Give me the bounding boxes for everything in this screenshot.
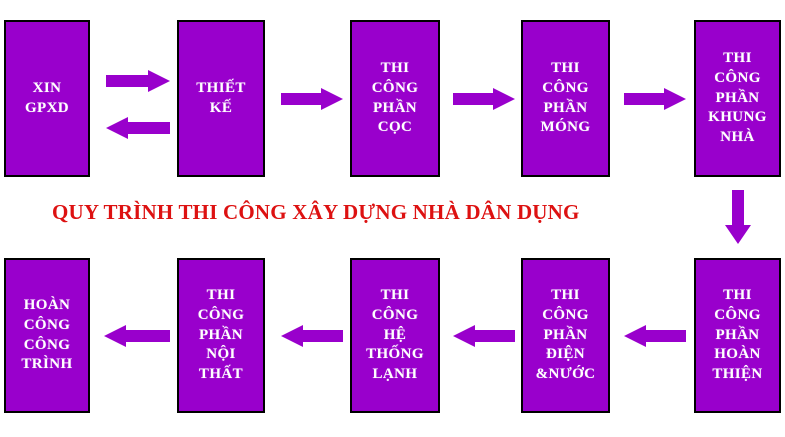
- process-box-thi-cong-phan-coc[interactable]: THI CÔNG PHẦN CỌC: [350, 20, 440, 177]
- process-box-thi-cong-phan-hoan-thien[interactable]: THI CÔNG PHẦN HOÀN THIỆN: [694, 258, 781, 413]
- arrow-gpxd-to-thietke: [106, 70, 170, 92]
- arrow-noithat-to-hoancong: [104, 325, 170, 347]
- flowchart-canvas: XIN GPXD THIẾT KẾ THI CÔNG PHẦN CỌC THI …: [0, 0, 785, 437]
- process-box-label: THI CÔNG HỆ THỐNG LẠNH: [366, 286, 424, 385]
- process-box-label: THI CÔNG PHẦN HOÀN THIỆN: [712, 286, 762, 385]
- process-box-label: THI CÔNG PHẦN KHUNG NHÀ: [708, 49, 767, 148]
- arrow-mong-to-khungnha: [624, 88, 686, 110]
- arrow-thietke-to-gpxd: [106, 117, 170, 139]
- arrow-hoanthien-to-diennuoc: [624, 325, 686, 347]
- arrow-diennuoc-to-helanh: [453, 325, 515, 347]
- process-box-xin-gpxd[interactable]: XIN GPXD: [4, 20, 90, 177]
- process-box-label: THI CÔNG PHẦN MÓNG: [541, 59, 591, 138]
- arrow-thietke-to-coc: [281, 88, 343, 110]
- arrow-helanh-to-noithat: [281, 325, 343, 347]
- page-title: QUY TRÌNH THI CÔNG XÂY DỰNG NHÀ DÂN DỤNG: [52, 200, 580, 225]
- process-box-thiet-ke[interactable]: THIẾT KẾ: [177, 20, 265, 177]
- process-box-label: THI CÔNG PHẦN ĐIỆN &NƯỚC: [536, 286, 596, 385]
- process-box-thi-cong-phan-noi-that[interactable]: THI CÔNG PHẦN NỘI THẤT: [177, 258, 265, 413]
- process-box-label: THIẾT KẾ: [196, 79, 246, 119]
- arrow-khungnha-to-hoanthien: [725, 190, 751, 244]
- arrow-coc-to-mong: [453, 88, 515, 110]
- process-box-thi-cong-phan-dien-nuoc[interactable]: THI CÔNG PHẦN ĐIỆN &NƯỚC: [521, 258, 610, 413]
- process-box-thi-cong-phan-mong[interactable]: THI CÔNG PHẦN MÓNG: [521, 20, 610, 177]
- process-box-label: XIN GPXD: [25, 79, 69, 119]
- process-box-label: THI CÔNG PHẦN CỌC: [372, 59, 419, 138]
- process-box-thi-cong-he-thong-lanh[interactable]: THI CÔNG HỆ THỐNG LẠNH: [350, 258, 440, 413]
- process-box-label: THI CÔNG PHẦN NỘI THẤT: [198, 286, 245, 385]
- process-box-label: HOÀN CÔNG CÔNG TRÌNH: [21, 296, 72, 375]
- process-box-thi-cong-phan-khung-nha[interactable]: THI CÔNG PHẦN KHUNG NHÀ: [694, 20, 781, 177]
- process-box-hoan-cong-cong-trinh[interactable]: HOÀN CÔNG CÔNG TRÌNH: [4, 258, 90, 413]
